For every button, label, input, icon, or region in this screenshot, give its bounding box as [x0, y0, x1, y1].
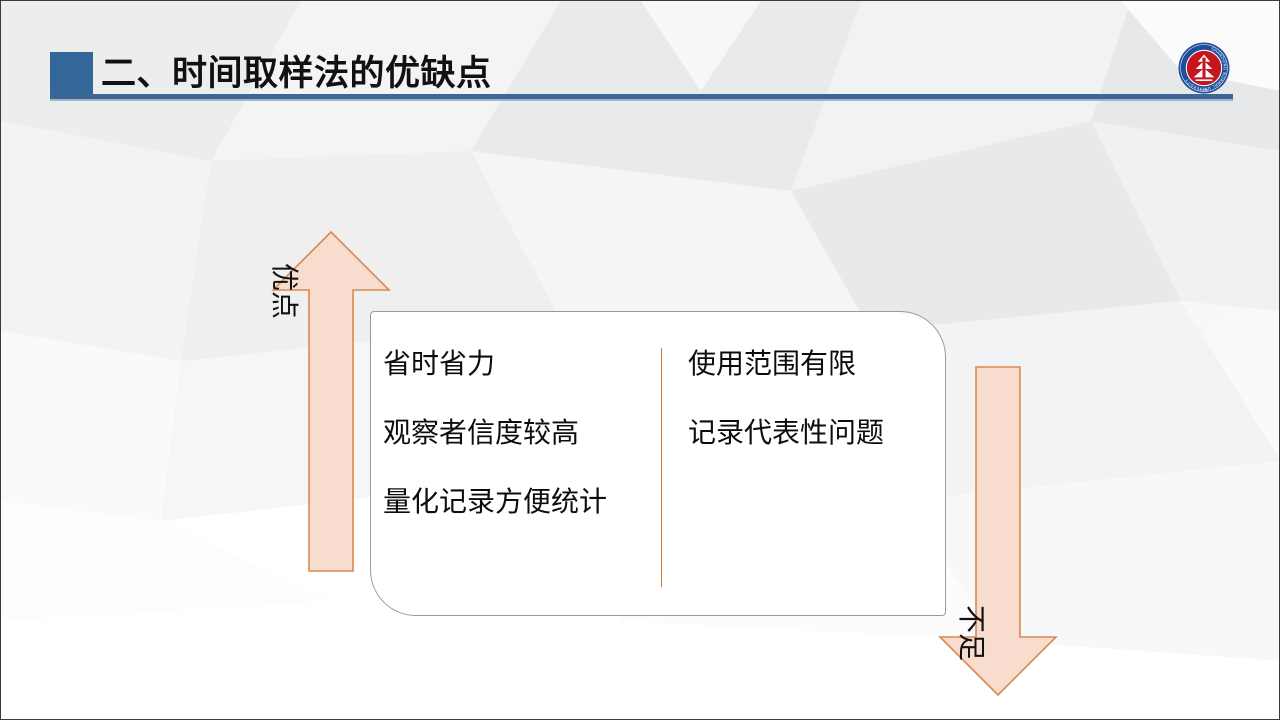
list-item: 观察者信度较高 — [383, 419, 660, 447]
page-title: 二、时间取样法的优缺点 — [101, 45, 492, 96]
title-accent-square — [50, 52, 93, 95]
presentation-slide: 二、时间取样法的优缺点 1902 SHANDONG NORMAL UNIVERS… — [0, 0, 1280, 720]
slide-header: 二、时间取样法的优缺点 — [1, 1, 1280, 121]
column-divider — [661, 348, 662, 587]
content-card: 省时省力 观察者信度较高 量化记录方便统计 使用范围有限 记录代表性问题 — [370, 311, 946, 616]
list-item: 记录代表性问题 — [688, 419, 945, 447]
title-underline-light — [50, 99, 1233, 101]
disadvantages-column: 使用范围有限 记录代表性问题 — [660, 312, 945, 615]
list-item: 量化记录方便统计 — [383, 488, 660, 516]
list-item: 使用范围有限 — [688, 350, 945, 378]
up-arrow-label: 优点 — [266, 263, 306, 319]
advantages-column: 省时省力 观察者信度较高 量化记录方便统计 — [371, 312, 660, 615]
list-item: 省时省力 — [383, 350, 660, 378]
down-arrow-label: 不足 — [953, 605, 993, 661]
